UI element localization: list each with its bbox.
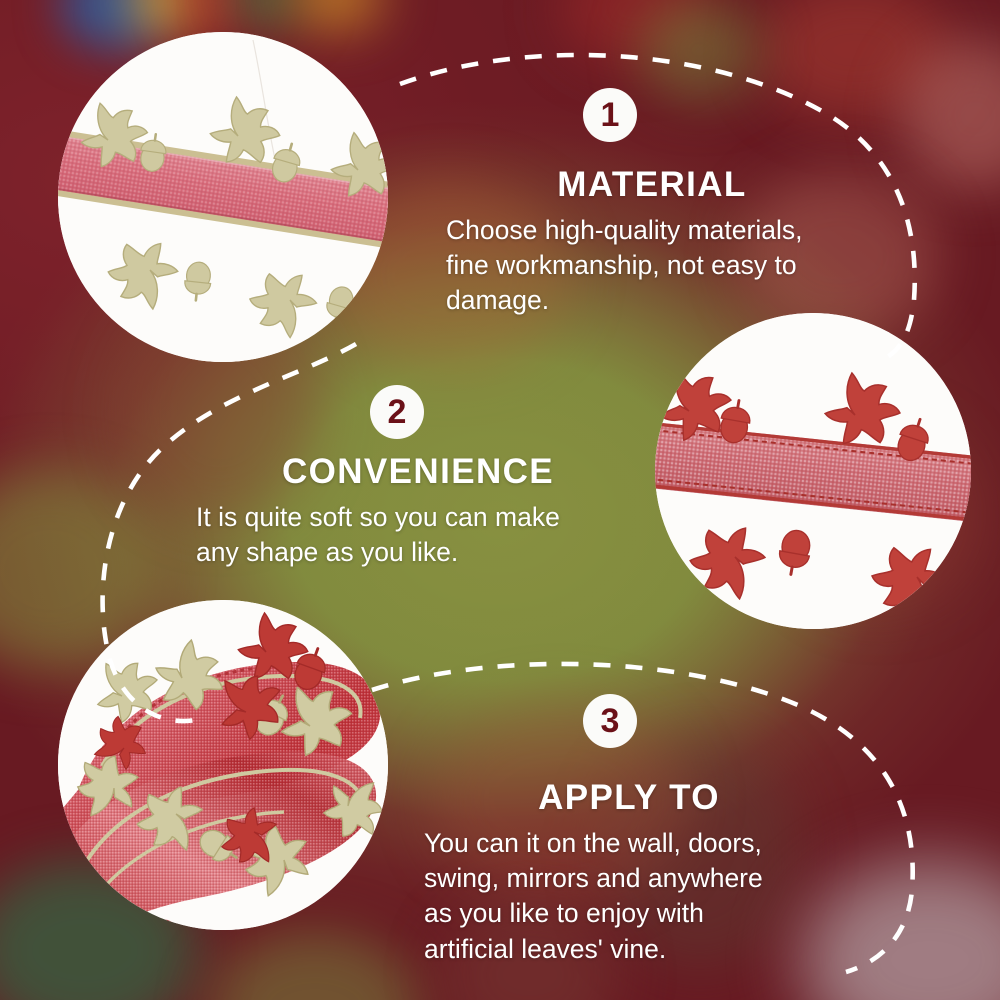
section-body-2: It is quite soft so you can make any sha… <box>196 500 626 570</box>
step-number-badge-1: 1 <box>583 88 637 142</box>
section-apply-to: APPLY TO You can it on the wall, doors, … <box>424 778 844 967</box>
section-body-3: You can it on the wall, doors, swing, mi… <box>424 826 844 967</box>
section-title-1: MATERIAL <box>428 165 876 205</box>
section-convenience: CONVENIENCE It is quite soft so you can … <box>196 452 626 570</box>
badge-number-1: 1 <box>601 98 620 132</box>
section-title-3: APPLY TO <box>414 778 844 818</box>
badge-number-3: 3 <box>601 704 620 738</box>
section-title-2: CONVENIENCE <box>210 452 626 492</box>
badge-number-2: 2 <box>388 395 407 429</box>
section-body-1: Choose high-quality materials, fine work… <box>446 213 876 319</box>
infographic-canvas: 1 2 3 MATERIAL Choose high-quality mater… <box>0 0 1000 1000</box>
section-material: MATERIAL Choose high-quality materials, … <box>446 165 876 319</box>
step-number-badge-3: 3 <box>583 694 637 748</box>
step-number-badge-2: 2 <box>370 385 424 439</box>
